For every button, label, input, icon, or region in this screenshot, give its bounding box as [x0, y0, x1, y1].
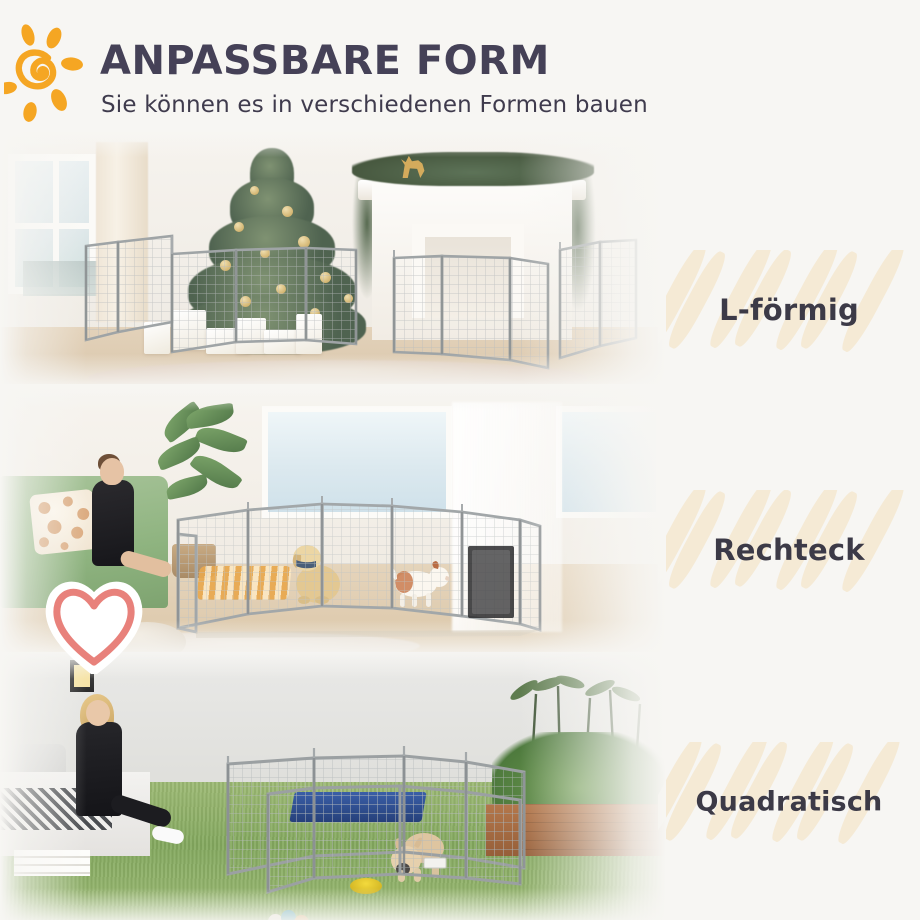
page-subtitle: Sie können es in verschiedenen Formen ba…	[101, 92, 648, 118]
header: ANPASSBARE FORM Sie können es in verschi…	[0, 0, 920, 140]
scene-l-shape	[0, 132, 666, 384]
infographic-canvas: ANPASSBARE FORM Sie können es in verschi…	[0, 0, 920, 920]
scene-square	[0, 652, 666, 920]
shape-label-text: L-förmig	[658, 293, 920, 327]
shape-label-square: Quadratisch	[658, 742, 920, 862]
heart-sticker	[40, 574, 148, 674]
shape-label-rectangle: Rechteck	[658, 490, 920, 610]
pet-playpen-square	[0, 652, 666, 920]
shape-label-l-shape: L-förmig	[658, 250, 920, 370]
shape-label-text: Quadratisch	[658, 787, 920, 818]
page-title: ANPASSBARE FORM	[100, 41, 550, 81]
shape-label-text: Rechteck	[658, 533, 920, 567]
pet-playpen-l-shape	[0, 132, 666, 384]
sun-spiral-icon	[4, 22, 96, 122]
